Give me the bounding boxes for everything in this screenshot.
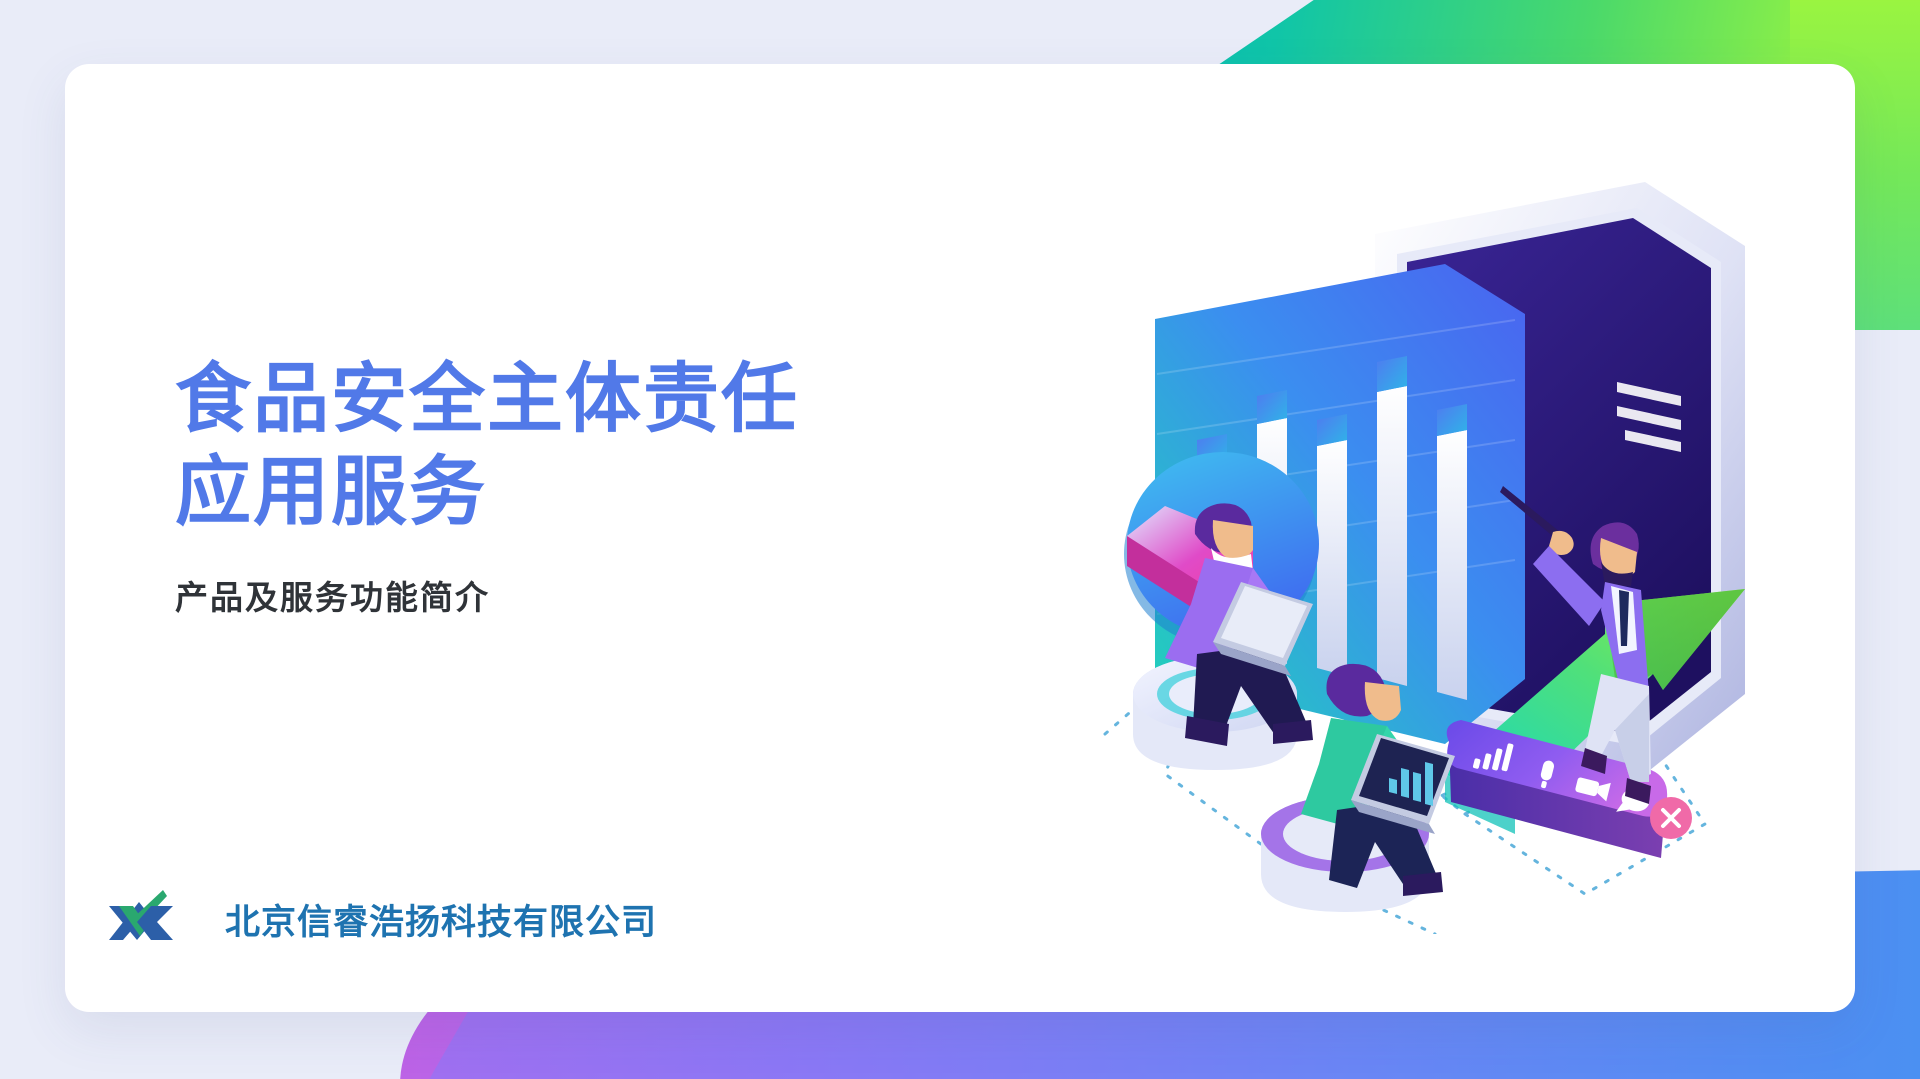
content-card: 食品安全主体责任 应用服务 产品及服务功能简介 北京信睿浩扬科技有限公司 [65,64,1855,1012]
title-block: 食品安全主体责任 应用服务 产品及服务功能简介 [175,354,799,619]
page-title: 食品安全主体责任 应用服务 [175,354,799,539]
footer-branding: 北京信睿浩扬科技有限公司 [107,888,657,950]
close-icon [1650,797,1692,839]
page-subtitle: 产品及服务功能简介 [175,571,799,619]
company-name: 北京信睿浩扬科技有限公司 [225,894,657,945]
slide-root: 食品安全主体责任 应用服务 产品及服务功能简介 北京信睿浩扬科技有限公司 [0,0,1920,1079]
hero-illustration [1045,134,1855,934]
company-logo-icon [107,888,203,950]
